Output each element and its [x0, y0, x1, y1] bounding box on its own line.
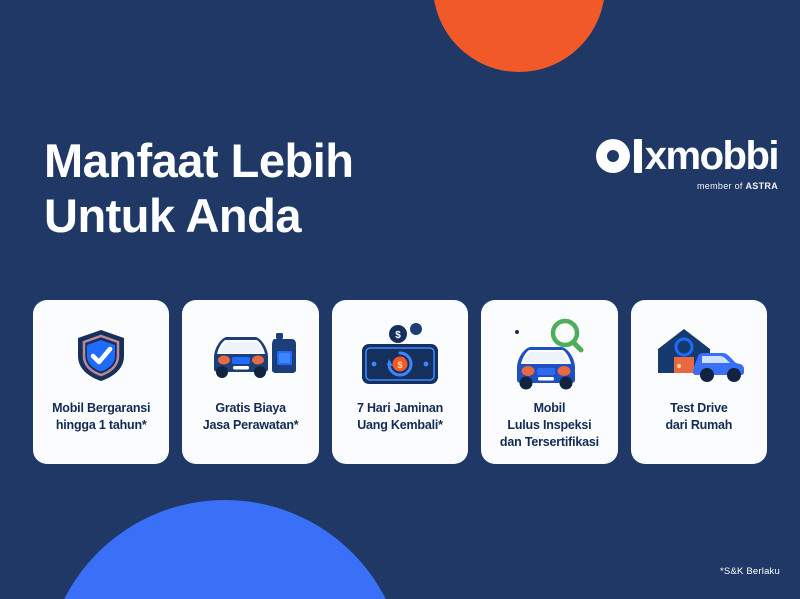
car-inspection-magnifier-icon [503, 312, 595, 398]
shield-check-icon [70, 312, 132, 398]
page-title: Manfaat Lebih Untuk Anda [44, 133, 353, 244]
logo-tagline: member of ASTRA [596, 181, 778, 191]
logo-l-icon [634, 139, 642, 173]
logo-wordmark: xmobbi [596, 136, 778, 176]
svg-text:$: $ [395, 330, 401, 341]
logo-o-icon [596, 139, 630, 173]
logo-text: xmobbi [645, 139, 778, 173]
svg-text:$: $ [398, 360, 403, 370]
money-back-banknote-icon: $ $ [354, 312, 446, 398]
benefit-card[interactable]: Test Drive dari Rumah [631, 300, 767, 464]
brand-logo: xmobbi member of ASTRA [596, 136, 778, 191]
benefit-card-list: Mobil Bergaransi hingga 1 tahun* [33, 300, 767, 464]
decorative-orange-circle [433, 0, 605, 72]
benefit-card[interactable]: Mobil Bergaransi hingga 1 tahun* [33, 300, 169, 464]
benefit-card[interactable]: Gratis Biaya Jasa Perawatan* [182, 300, 318, 464]
benefit-card-label: Test Drive dari Rumah [665, 400, 732, 434]
home-test-drive-icon [650, 312, 748, 398]
benefit-card[interactable]: Mobil Lulus Inspeksi dan Tersertifikasi [481, 300, 617, 464]
logo-tagline-prefix: member of [697, 181, 746, 191]
benefit-card-label: Mobil Bergaransi hingga 1 tahun* [52, 400, 150, 434]
promo-banner: Manfaat Lebih Untuk Anda xmobbi member o… [0, 0, 800, 599]
benefit-card-label: Mobil Lulus Inspeksi dan Tersertifikasi [500, 400, 599, 451]
decorative-blue-circle [45, 500, 405, 599]
benefit-card-label: 7 Hari Jaminan Uang Kembali* [357, 400, 443, 434]
logo-tagline-brand: ASTRA [746, 181, 779, 191]
benefit-card-label: Gratis Biaya Jasa Perawatan* [203, 400, 299, 434]
terms-footnote: *S&K Berlaku [720, 566, 780, 577]
benefit-card[interactable]: $ $ 7 Hari Jaminan Uang Kembali* [332, 300, 468, 464]
car-maintenance-oil-icon [204, 312, 298, 398]
